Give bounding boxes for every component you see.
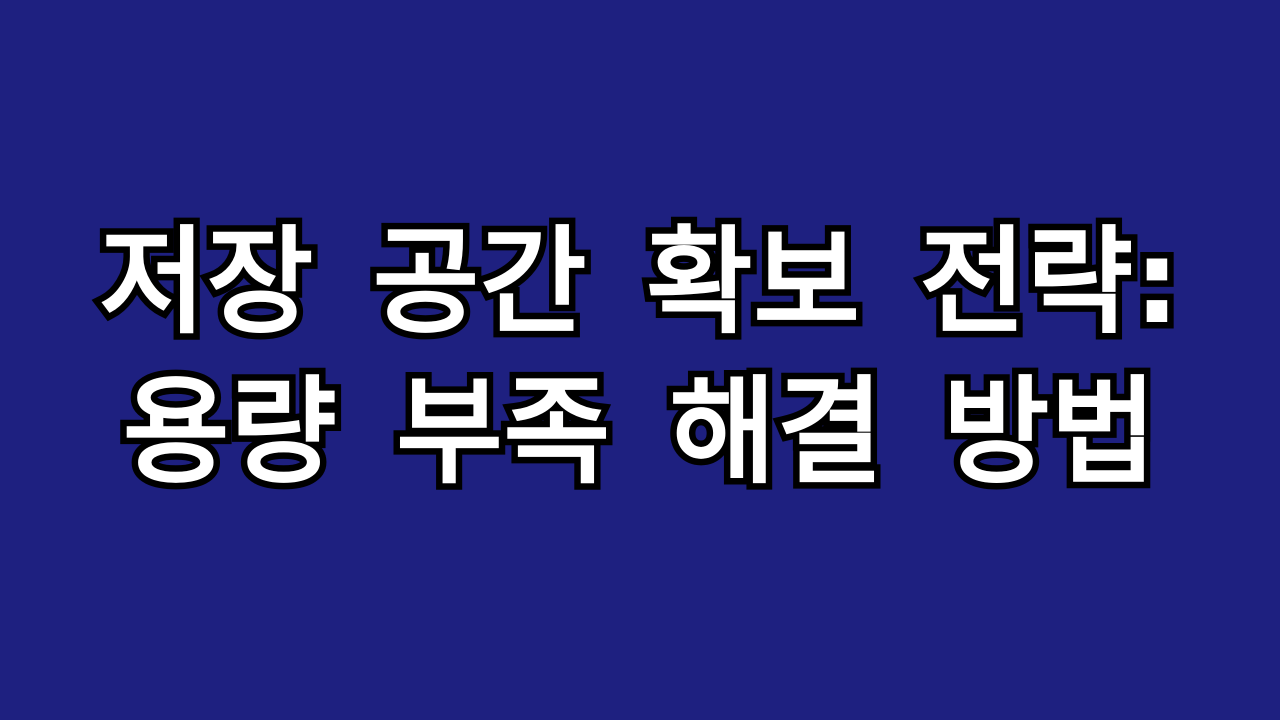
title-block: 저장 공간 확보 전략: 용량 부족 해결 방법 [0,210,1280,506]
title-line-2: 용량 부족 해결 방법 [0,360,1280,506]
title-line-1: 저장 공간 확보 전략: [0,210,1280,356]
thumbnail-card: 저장 공간 확보 전략: 용량 부족 해결 방법 [0,0,1280,720]
